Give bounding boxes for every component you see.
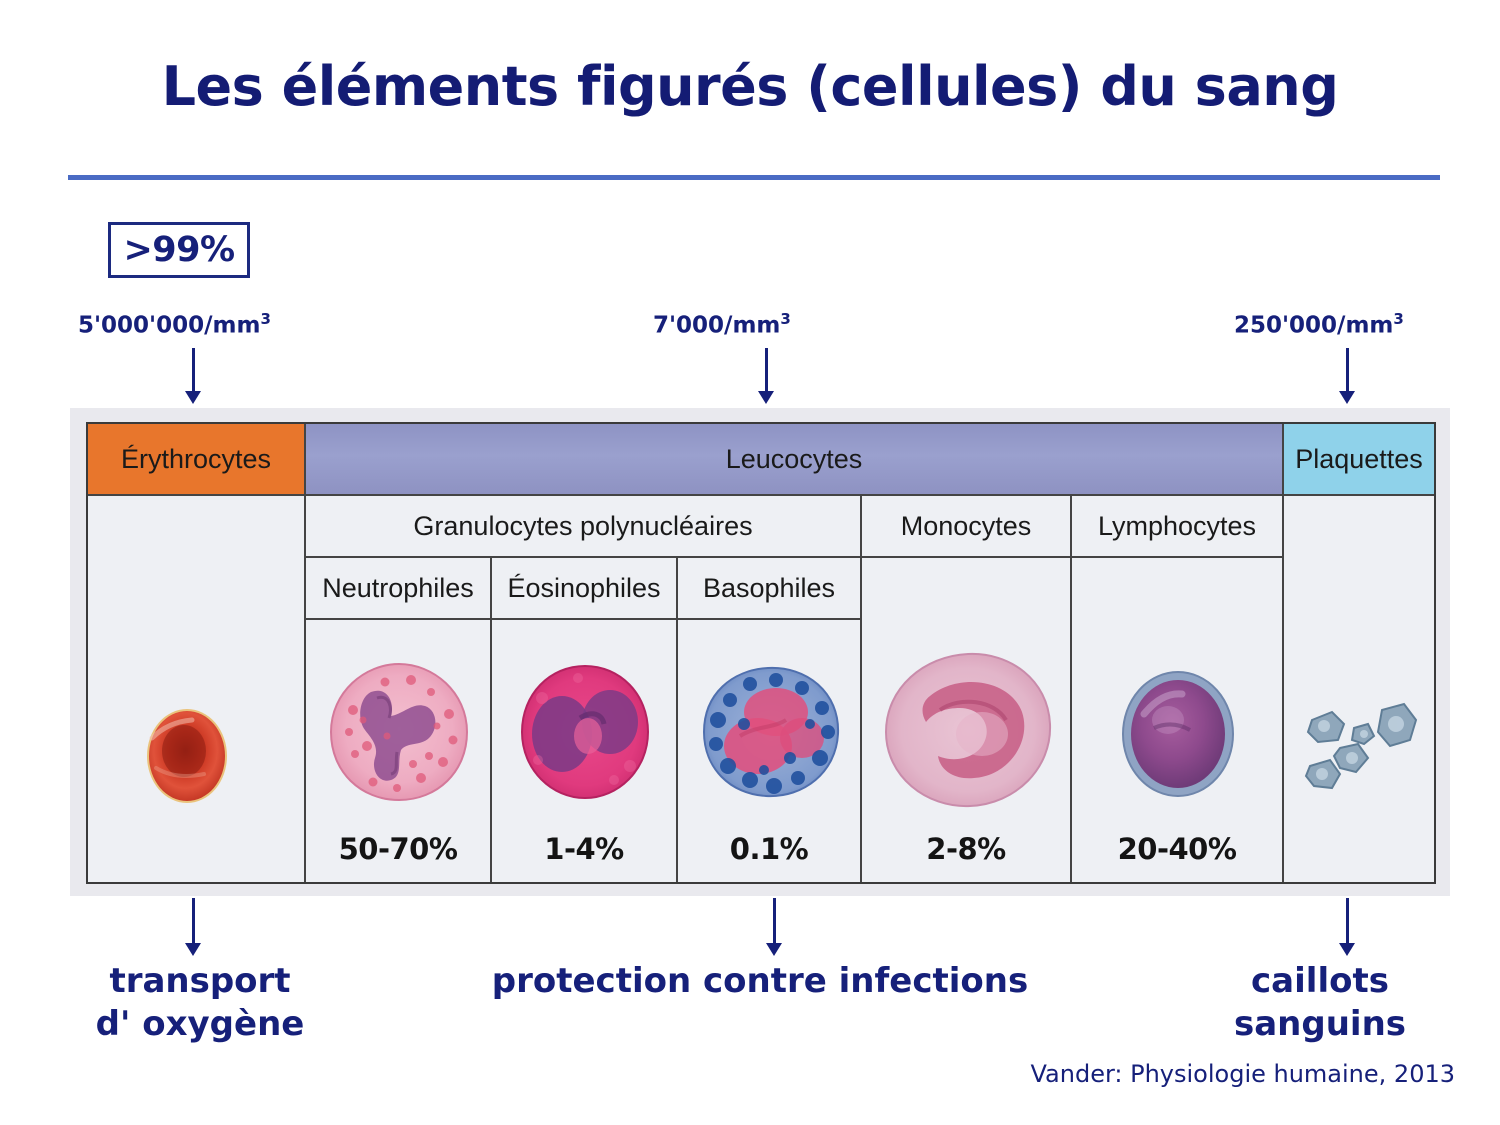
slide-canvas: Les éléments figurés (cellules) du sang … <box>0 0 1500 1125</box>
arrow-down-erythrocytes <box>184 348 202 404</box>
percent-monocyte: 2-8% <box>862 832 1070 866</box>
count-exponent-erythrocytes: 3 <box>260 310 270 328</box>
cell-neutrophile: 50-70% <box>306 620 492 884</box>
platelets-micrograph <box>1296 688 1426 798</box>
arrow-down-plaquettes <box>1338 348 1356 404</box>
blood-cells-table: Érythrocytes Leucocytes Plaquettes Granu… <box>86 422 1436 884</box>
erythrocyte-micrograph <box>132 696 242 816</box>
count-exponent-plaquettes: 3 <box>1393 310 1403 328</box>
percent-eosinophile: 1-4% <box>492 832 676 866</box>
arrow-down-transport <box>184 898 202 956</box>
function-label-transport: transport d' oxygène <box>40 960 360 1045</box>
percent-neutrophile: 50-70% <box>306 832 490 866</box>
percent-basophile: 0.1% <box>678 832 860 866</box>
header-leucocytes: Leucocytes <box>306 424 1284 496</box>
title-divider <box>68 175 1440 180</box>
function-label-protection: protection contre infections <box>430 960 1090 1003</box>
page-title: Les éléments figurés (cellules) du sang <box>0 55 1500 118</box>
cell-eosinophile: 1-4% <box>492 620 678 884</box>
cell-monocyte: 2-8% <box>862 558 1072 884</box>
header-lymphocytes: Lymphocytes <box>1072 496 1284 558</box>
neutrophil-micrograph <box>325 658 473 806</box>
source-citation: Vander: Physiologie humaine, 2013 <box>1030 1060 1455 1088</box>
blood-cells-figure: 2. Insuffisance de production de la moel… <box>70 408 1450 896</box>
header-erythrocytes: Érythrocytes <box>88 424 306 496</box>
count-label-erythrocytes: 5'000'000/mm3 <box>78 310 271 339</box>
count-value-plaquettes: 250'000/mm <box>1234 313 1393 339</box>
basophil-micrograph <box>698 662 844 802</box>
arrow-down-leucocytes <box>757 348 775 404</box>
header-plaquettes: Plaquettes <box>1284 424 1434 496</box>
lymphocyte-micrograph <box>1116 668 1240 800</box>
percent-lymphocyte: 20-40% <box>1072 832 1282 866</box>
count-label-leucocytes: 7'000/mm3 <box>653 310 791 339</box>
arrow-down-clots <box>1338 898 1356 956</box>
function-label-clots: caillots sanguins <box>1180 960 1460 1045</box>
count-value-leucocytes: 7'000/mm <box>653 313 780 339</box>
count-label-plaquettes: 250'000/mm3 <box>1234 310 1404 339</box>
monocyte-micrograph <box>882 650 1054 808</box>
cell-erythrocyte <box>88 496 306 884</box>
percent-badge: >99% <box>108 222 250 278</box>
count-value-erythrocytes: 5'000'000/mm <box>78 313 260 339</box>
cell-plaquettes <box>1284 496 1434 884</box>
count-exponent-leucocytes: 3 <box>780 310 790 328</box>
arrow-down-protection <box>765 898 783 956</box>
header-granulocytes: Granulocytes polynucléaires <box>306 496 862 558</box>
header-monocytes: Monocytes <box>862 496 1072 558</box>
header-neutrophiles: Neutrophiles <box>306 558 492 620</box>
cell-basophile: 0.1% <box>678 620 862 884</box>
cell-lymphocyte: 20-40% <box>1072 558 1284 884</box>
eosinophil-micrograph <box>518 662 652 802</box>
header-eosinophiles: Éosinophiles <box>492 558 678 620</box>
header-basophiles: Basophiles <box>678 558 862 620</box>
